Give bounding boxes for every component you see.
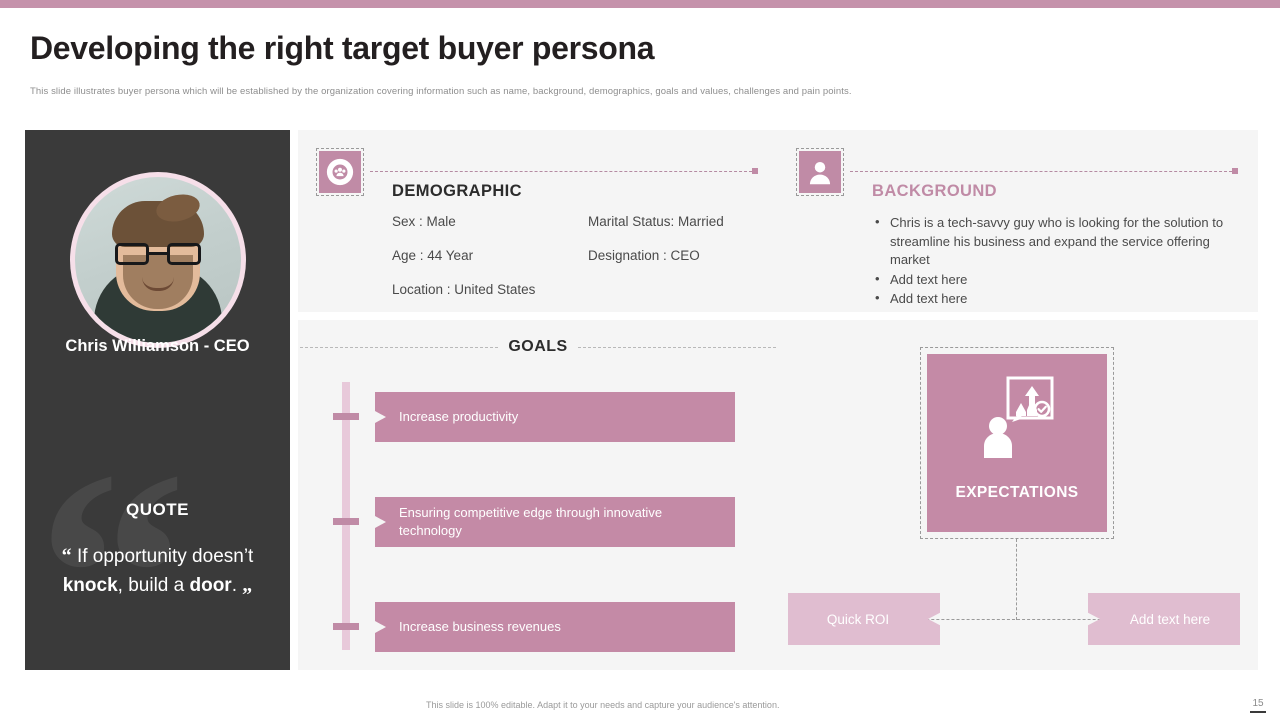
person-chart-growth-icon [980, 376, 1054, 463]
expectations-card: EXPECTATIONS Quick ROI Add text here [778, 320, 1258, 670]
person-avatar-icon [799, 151, 841, 193]
persona-panel: “ Chris Williamson - CEO QUOTE “ If oppo… [25, 130, 290, 670]
quote-bold-2: door [189, 575, 231, 596]
page-number: 15 [1250, 698, 1266, 709]
quote-close-mark: „ [242, 574, 252, 596]
demographics-pie-people-icon [319, 151, 361, 193]
background-card: BACKGROUND Chris is a tech-savvy guy who… [778, 130, 1258, 312]
quote-part-2: , build a [118, 575, 190, 596]
goal-item[interactable]: Ensuring competitive edge through innova… [375, 497, 735, 547]
demographic-field-marital-status: Marital Status: Married [588, 214, 762, 229]
expectation-leaf[interactable]: Quick ROI [788, 593, 940, 645]
goals-timeline-tick [333, 413, 359, 420]
expectations-box[interactable]: EXPECTATIONS [927, 354, 1107, 532]
quote-title: QUOTE [25, 500, 290, 520]
quote-text: “ If opportunity doesn’t knock, build a … [51, 542, 264, 600]
goals-header: GOALS [298, 338, 778, 356]
background-heading: BACKGROUND [872, 182, 997, 201]
demographic-heading: DEMOGRAPHIC [392, 182, 522, 201]
background-dashed-rule [850, 171, 1232, 172]
top-accent-bar [0, 0, 1280, 8]
goals-rule-left [300, 347, 498, 348]
background-dash-endpoint [1232, 168, 1238, 174]
avatar [75, 177, 241, 343]
background-bullet: Add text here [874, 290, 1234, 309]
quote-part-3: . [232, 575, 237, 596]
avatar-ring [70, 172, 246, 348]
expectations-label: EXPECTATIONS [955, 484, 1078, 502]
expectations-connector-vertical [1016, 539, 1017, 620]
footer-note: This slide is 100% editable. Adapt it to… [426, 700, 779, 710]
goals-card: GOALS Increase productivity Ensuring com… [298, 320, 778, 670]
demographic-dashed-rule [370, 171, 752, 172]
expectations-frame: EXPECTATIONS [920, 347, 1114, 539]
goals-timeline-tick [333, 623, 359, 630]
persona-name: Chris Williamson - CEO [25, 337, 290, 356]
glasses-icon [115, 243, 201, 265]
goals-timeline-tick [333, 518, 359, 525]
demographic-fields: Sex : Male Marital Status: Married Age :… [392, 214, 762, 297]
goals-heading: GOALS [508, 338, 567, 356]
page-title: Developing the right target buyer person… [30, 30, 654, 67]
goals-rule-right [578, 347, 776, 348]
quote-part-1: If opportunity doesn’t [77, 546, 253, 567]
goal-item[interactable]: Increase business revenues [375, 602, 735, 652]
quote-bold-1: knock [63, 575, 118, 596]
goal-item[interactable]: Increase productivity [375, 392, 735, 442]
goals-timeline-bar [342, 382, 350, 650]
background-bullet-list: Chris is a tech-savvy guy who is looking… [874, 214, 1234, 310]
demographic-field-empty [588, 282, 762, 297]
demographic-field-age: Age : 44 Year [392, 248, 588, 263]
background-bullet: Add text here [874, 271, 1234, 290]
background-icon-frame [796, 148, 844, 196]
quote-open-mark: “ [62, 545, 72, 567]
demographic-field-sex: Sex : Male [392, 214, 588, 229]
demographic-field-designation: Designation : CEO [588, 248, 762, 263]
slide-root: Developing the right target buyer person… [0, 0, 1280, 720]
background-bullet: Chris is a tech-savvy guy who is looking… [874, 214, 1234, 270]
page-number-group: 15 [1250, 698, 1266, 713]
demographic-icon-frame [316, 148, 364, 196]
demographic-card: DEMOGRAPHIC Sex : Male Marital Status: M… [298, 130, 778, 312]
page-number-rule [1250, 711, 1266, 713]
demographic-field-location: Location : United States [392, 282, 588, 297]
expectation-leaf[interactable]: Add text here [1088, 593, 1240, 645]
demographic-dash-endpoint [752, 168, 758, 174]
page-subtitle: This slide illustrates buyer persona whi… [30, 86, 1090, 97]
